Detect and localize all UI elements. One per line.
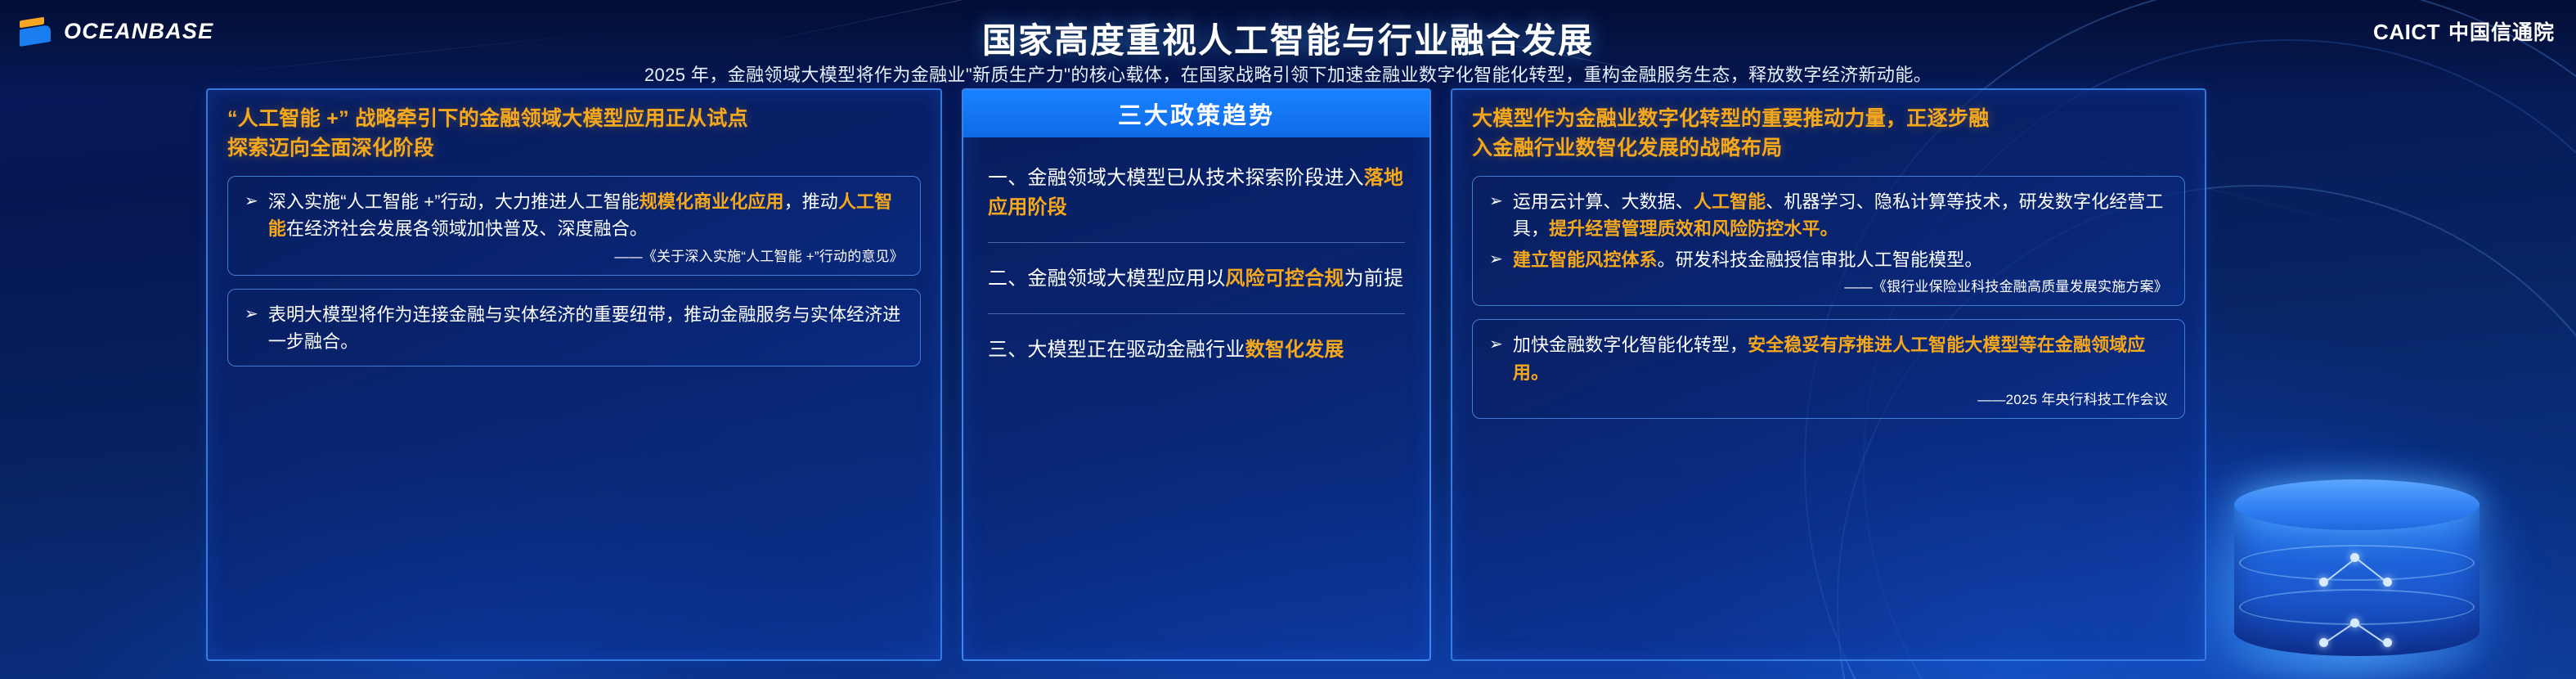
highlighted-text-run: 提升经营管理质效和风险防控水平。 [1549, 218, 1838, 239]
policy-card: ➢深入实施“人工智能 +”行动，大力推进人工智能规模化商业化应用，推动人工智能在… [227, 176, 921, 276]
left-panel-heading-line1: “人工智能 +” 战略牵引下的金融领域大模型应用正从试点 [227, 105, 921, 134]
citation-source: ——《关于深入实施“人工智能 +”行动的意见》 [245, 245, 904, 265]
panel-policy-guidance: “人工智能 +” 战略牵引下的金融领域大模型应用正从试点 探索迈向全面深化阶段 … [206, 88, 942, 661]
right-panel-heading-line1: 大模型作为金融业数字化转型的重要推动力量，正逐步融 [1472, 105, 2185, 134]
bullet-item: ➢表明大模型将作为连接金融与实体经济的重要纽带，推动金融服务与实体经济进一步融合… [245, 301, 904, 356]
bullet-arrow-icon: ➢ [1489, 188, 1503, 243]
right-panel-heading: 大模型作为金融业数字化转型的重要推动力量，正逐步融 入金融行业数智化发展的战略布… [1472, 105, 2185, 163]
bullet-arrow-icon: ➢ [245, 188, 258, 243]
policy-card: ➢表明大模型将作为连接金融与实体经济的重要纽带，推动金融服务与实体经济进一步融合… [227, 289, 921, 366]
citation-source: ——《银行业保险业科技金融高质量发展实施方案》 [1489, 275, 2168, 295]
bullet-item: ➢深入实施“人工智能 +”行动，大力推进人工智能规模化商业化应用，推动人工智能在… [245, 188, 904, 243]
right-panel-heading-line2: 入金融行业数智化发展的战略布局 [1472, 134, 2185, 164]
middle-panel-heading: 三大政策趋势 [963, 90, 1429, 137]
page-subtitle: 2025 年，金融领域大模型将作为金融业"新质生产力"的核心载体，在国家战略引领… [0, 61, 2576, 87]
bullet-text: 运用云计算、大数据、人工智能、机器学习、隐私计算等技术，研发数字化经营工具，提升… [1513, 188, 2168, 243]
text-run: 运用云计算、大数据、 [1513, 191, 1694, 212]
panel-digital-transformation: 大模型作为金融业数字化转型的重要推动力量，正逐步融 入金融行业数智化发展的战略布… [1451, 88, 2206, 661]
policy-card: ➢加快金融数字化智能化转型，安全稳妥有序推进人工智能大模型等在金融领域应用。——… [1472, 319, 2185, 419]
panel-three-policy-trends: 三大政策趋势 一、金融领域大模型已从技术探索阶段进入落地应用阶段二、金融领域大模… [962, 88, 1431, 661]
text-run: 为前提 [1344, 268, 1404, 290]
citation-source: ——2025 年央行科技工作会议 [1489, 388, 2168, 408]
bullet-text: 建立智能风控体系。研发科技金融授信审批人工智能模型。 [1513, 246, 1983, 273]
highlighted-text-run: 风险可控合规 [1225, 268, 1344, 290]
policy-card: ➢运用云计算、大数据、人工智能、机器学习、隐私计算等技术，研发数字化经营工具，提… [1472, 176, 2185, 306]
text-run: 深入实施“人工智能 +”行动，大力推进人工智能 [268, 191, 640, 212]
text-run: 一、金融领域大模型已从技术探索阶段进入 [988, 167, 1364, 189]
policy-trend-item: 一、金融领域大模型已从技术探索阶段进入落地应用阶段 [988, 142, 1405, 242]
page-title: 国家高度重视人工智能与行业融合发展 [0, 13, 2576, 63]
text-run: 。研发科技金融授信审批人工智能模型。 [1658, 250, 1983, 270]
highlighted-text-run: 建立智能风控体系 [1513, 250, 1658, 270]
slide-canvas: OCEANBASE CAICT 中国信通院 国家高度重视人工智能与行业融合发展 … [0, 0, 2576, 679]
policy-trend-item: 二、金融领域大模型应用以风险可控合规为前提 [988, 242, 1405, 313]
middle-panel-items: 一、金融领域大模型已从技术探索阶段进入落地应用阶段二、金融领域大模型应用以风险可… [963, 137, 1429, 393]
highlighted-text-run: 人工智能 [1694, 191, 1766, 212]
right-panel-cards: ➢运用云计算、大数据、人工智能、机器学习、隐私计算等技术，研发数字化经营工具，提… [1472, 176, 2185, 419]
left-panel-heading: “人工智能 +” 战略牵引下的金融领域大模型应用正从试点 探索迈向全面深化阶段 [227, 105, 921, 163]
bullet-item: ➢加快金融数字化智能化转型，安全稳妥有序推进人工智能大模型等在金融领域应用。 [1489, 331, 2168, 386]
text-run: 在经济社会发展各领域加快普及、深度融合。 [286, 218, 648, 239]
bullet-arrow-icon: ➢ [245, 301, 258, 356]
panels-row: “人工智能 +” 战略牵引下的金融领域大模型应用正从试点 探索迈向全面深化阶段 … [0, 88, 2576, 661]
bullet-text: 表明大模型将作为连接金融与实体经济的重要纽带，推动金融服务与实体经济进一步融合。 [268, 301, 904, 356]
bullet-arrow-icon: ➢ [1489, 331, 1503, 386]
text-run: 表明大模型将作为连接金融与实体经济的重要纽带，推动金融服务与实体经济进一步融合。 [268, 304, 901, 352]
text-run: ，推动 [784, 191, 838, 212]
bullet-arrow-icon: ➢ [1489, 246, 1503, 273]
text-run: 三、大模型正在驱动金融行业 [988, 339, 1245, 361]
bullet-item: ➢运用云计算、大数据、人工智能、机器学习、隐私计算等技术，研发数字化经营工具，提… [1489, 188, 2168, 243]
text-run: 加快金融数字化智能化转型， [1513, 335, 1748, 355]
policy-trend-item: 三、大模型正在驱动金融行业数智化发展 [988, 313, 1405, 384]
bullet-text: 深入实施“人工智能 +”行动，大力推进人工智能规模化商业化应用，推动人工智能在经… [268, 188, 904, 243]
left-panel-cards: ➢深入实施“人工智能 +”行动，大力推进人工智能规模化商业化应用，推动人工智能在… [227, 176, 921, 366]
highlighted-text-run: 数智化发展 [1245, 339, 1344, 361]
left-panel-heading-line2: 探索迈向全面深化阶段 [227, 134, 921, 164]
bullet-item: ➢建立智能风控体系。研发科技金融授信审批人工智能模型。 [1489, 246, 2168, 273]
bullet-text: 加快金融数字化智能化转型，安全稳妥有序推进人工智能大模型等在金融领域应用。 [1513, 331, 2168, 386]
highlighted-text-run: 规模化商业化应用 [640, 191, 784, 212]
text-run: 二、金融领域大模型应用以 [988, 268, 1225, 290]
